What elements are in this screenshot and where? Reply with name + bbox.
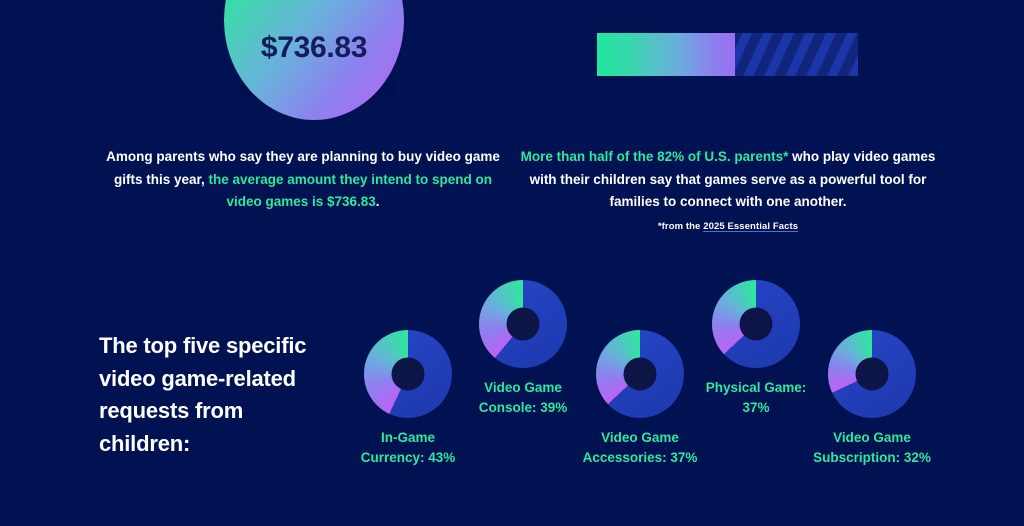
donut-item-physical-game: Physical Game: 37% [696,280,816,417]
donut-chart [828,330,916,418]
infographic-canvas: $736.83 Among parents who say they are p… [0,0,1024,526]
footnote-link[interactable]: 2025 Essential Facts [703,221,798,232]
split-bar-graphic [597,33,858,76]
caption-right: More than half of the 82% of U.S. parent… [518,146,938,214]
donut-hole [740,308,773,341]
bar-filled-segment [597,33,735,76]
caption-left: Among parents who say they are planning … [98,146,508,214]
donut-chart [479,280,567,368]
footnote-prefix: *from the [658,221,703,232]
amount-value: $736.83 [224,0,404,120]
donut-hole [507,308,540,341]
donut-hole [856,358,889,391]
bar-striped-segment [735,33,858,76]
donut-label: Video Game Console: 39% [463,378,583,417]
donut-chart [364,330,452,418]
donut-item-video-game-console: Video Game Console: 39% [463,280,583,417]
caption-right-highlight: More than half of the 82% of U.S. parent… [521,149,789,164]
caption-left-text-2: . [376,194,380,209]
page-title: The top five specific video game-related… [99,330,329,460]
amount-dome-graphic: $736.83 [224,0,404,120]
donut-hole [392,358,425,391]
caption-left-highlight: the average amount they intend to spend … [209,172,493,210]
donut-chart-group: In-Game Currency: 43% Video Game Console… [348,272,948,526]
donut-hole [624,358,657,391]
donut-label: Video Game Accessories: 37% [580,428,700,467]
donut-chart [596,330,684,418]
donut-label: In-Game Currency: 43% [348,428,468,467]
donut-chart [712,280,800,368]
footnote: *from the 2025 Essential Facts [518,221,938,232]
donut-item-in-game-currency: In-Game Currency: 43% [348,330,468,467]
donut-label: Video Game Subscription: 32% [812,428,932,467]
donut-label: Physical Game: 37% [696,378,816,417]
donut-item-video-game-subscription: Video Game Subscription: 32% [812,330,932,467]
donut-item-video-game-accessories: Video Game Accessories: 37% [580,330,700,467]
